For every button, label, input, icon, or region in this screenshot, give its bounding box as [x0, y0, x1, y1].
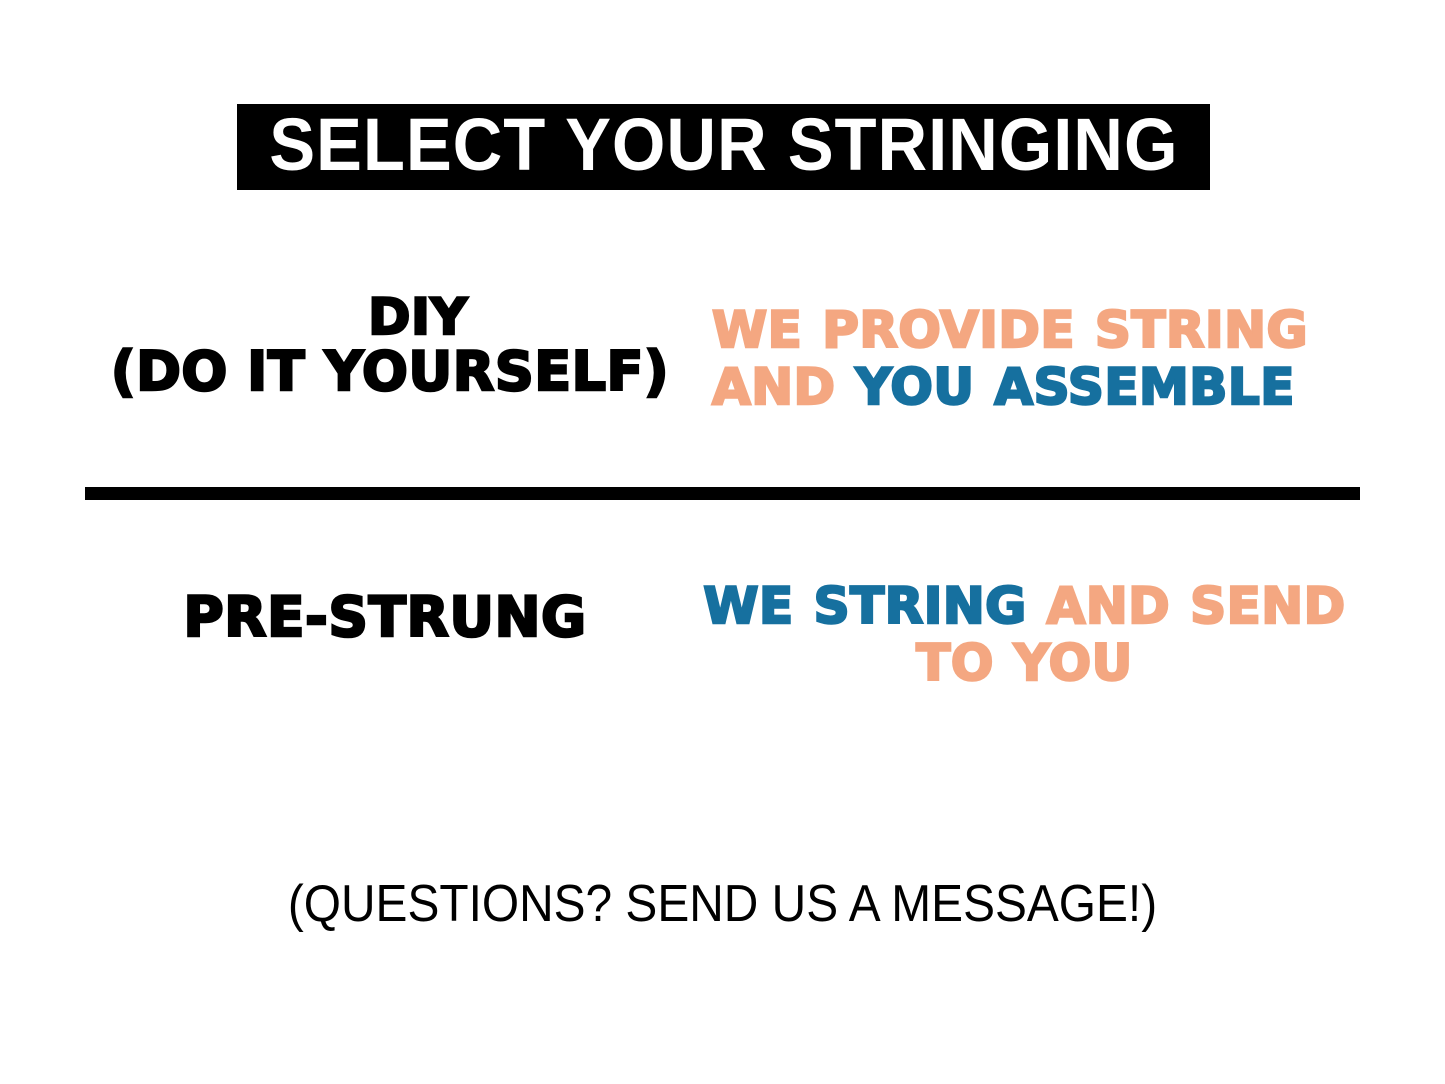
desc-pre-part-1: WE STRING — [703, 577, 1046, 635]
footer-note: (QUESTIONS? SEND US A MESSAGE!) — [58, 874, 1387, 934]
option-description-diy: WE PROVIDE STRING AND YOU ASSEMBLE — [712, 302, 1337, 416]
option-row-pre-strung[interactable]: PRE-STRUNG WE STRING AND SEND TO YOU — [0, 560, 1445, 720]
option-description-pre-strung: WE STRING AND SEND TO YOU — [702, 578, 1347, 692]
desc-diy-part-2: YOU ASSEMBLE — [855, 358, 1294, 416]
option-label-pre-strung-short: PRE-STRUNG — [85, 586, 685, 648]
option-label-diy-long: (DO IT YOURSELF) — [90, 342, 690, 402]
option-label-pre-strung: PRE-STRUNG — [90, 560, 690, 622]
page-title: SELECT YOUR STRINGING — [269, 108, 1178, 186]
option-row-diy[interactable]: DIY (DO IT YOURSELF) WE PROVIDE STRING A… — [0, 280, 1445, 440]
stringing-option-slide: { "page": { "background_color": "#ffffff… — [0, 0, 1445, 1084]
section-divider — [85, 487, 1360, 500]
diy-label-stack: DIY (DO IT YOURSELF) — [90, 280, 690, 412]
page-title-banner: SELECT YOUR STRINGING — [237, 104, 1210, 190]
option-label-diy-short: DIY — [112, 292, 724, 342]
option-label-diy: DIY (DO IT YOURSELF) — [90, 280, 690, 412]
